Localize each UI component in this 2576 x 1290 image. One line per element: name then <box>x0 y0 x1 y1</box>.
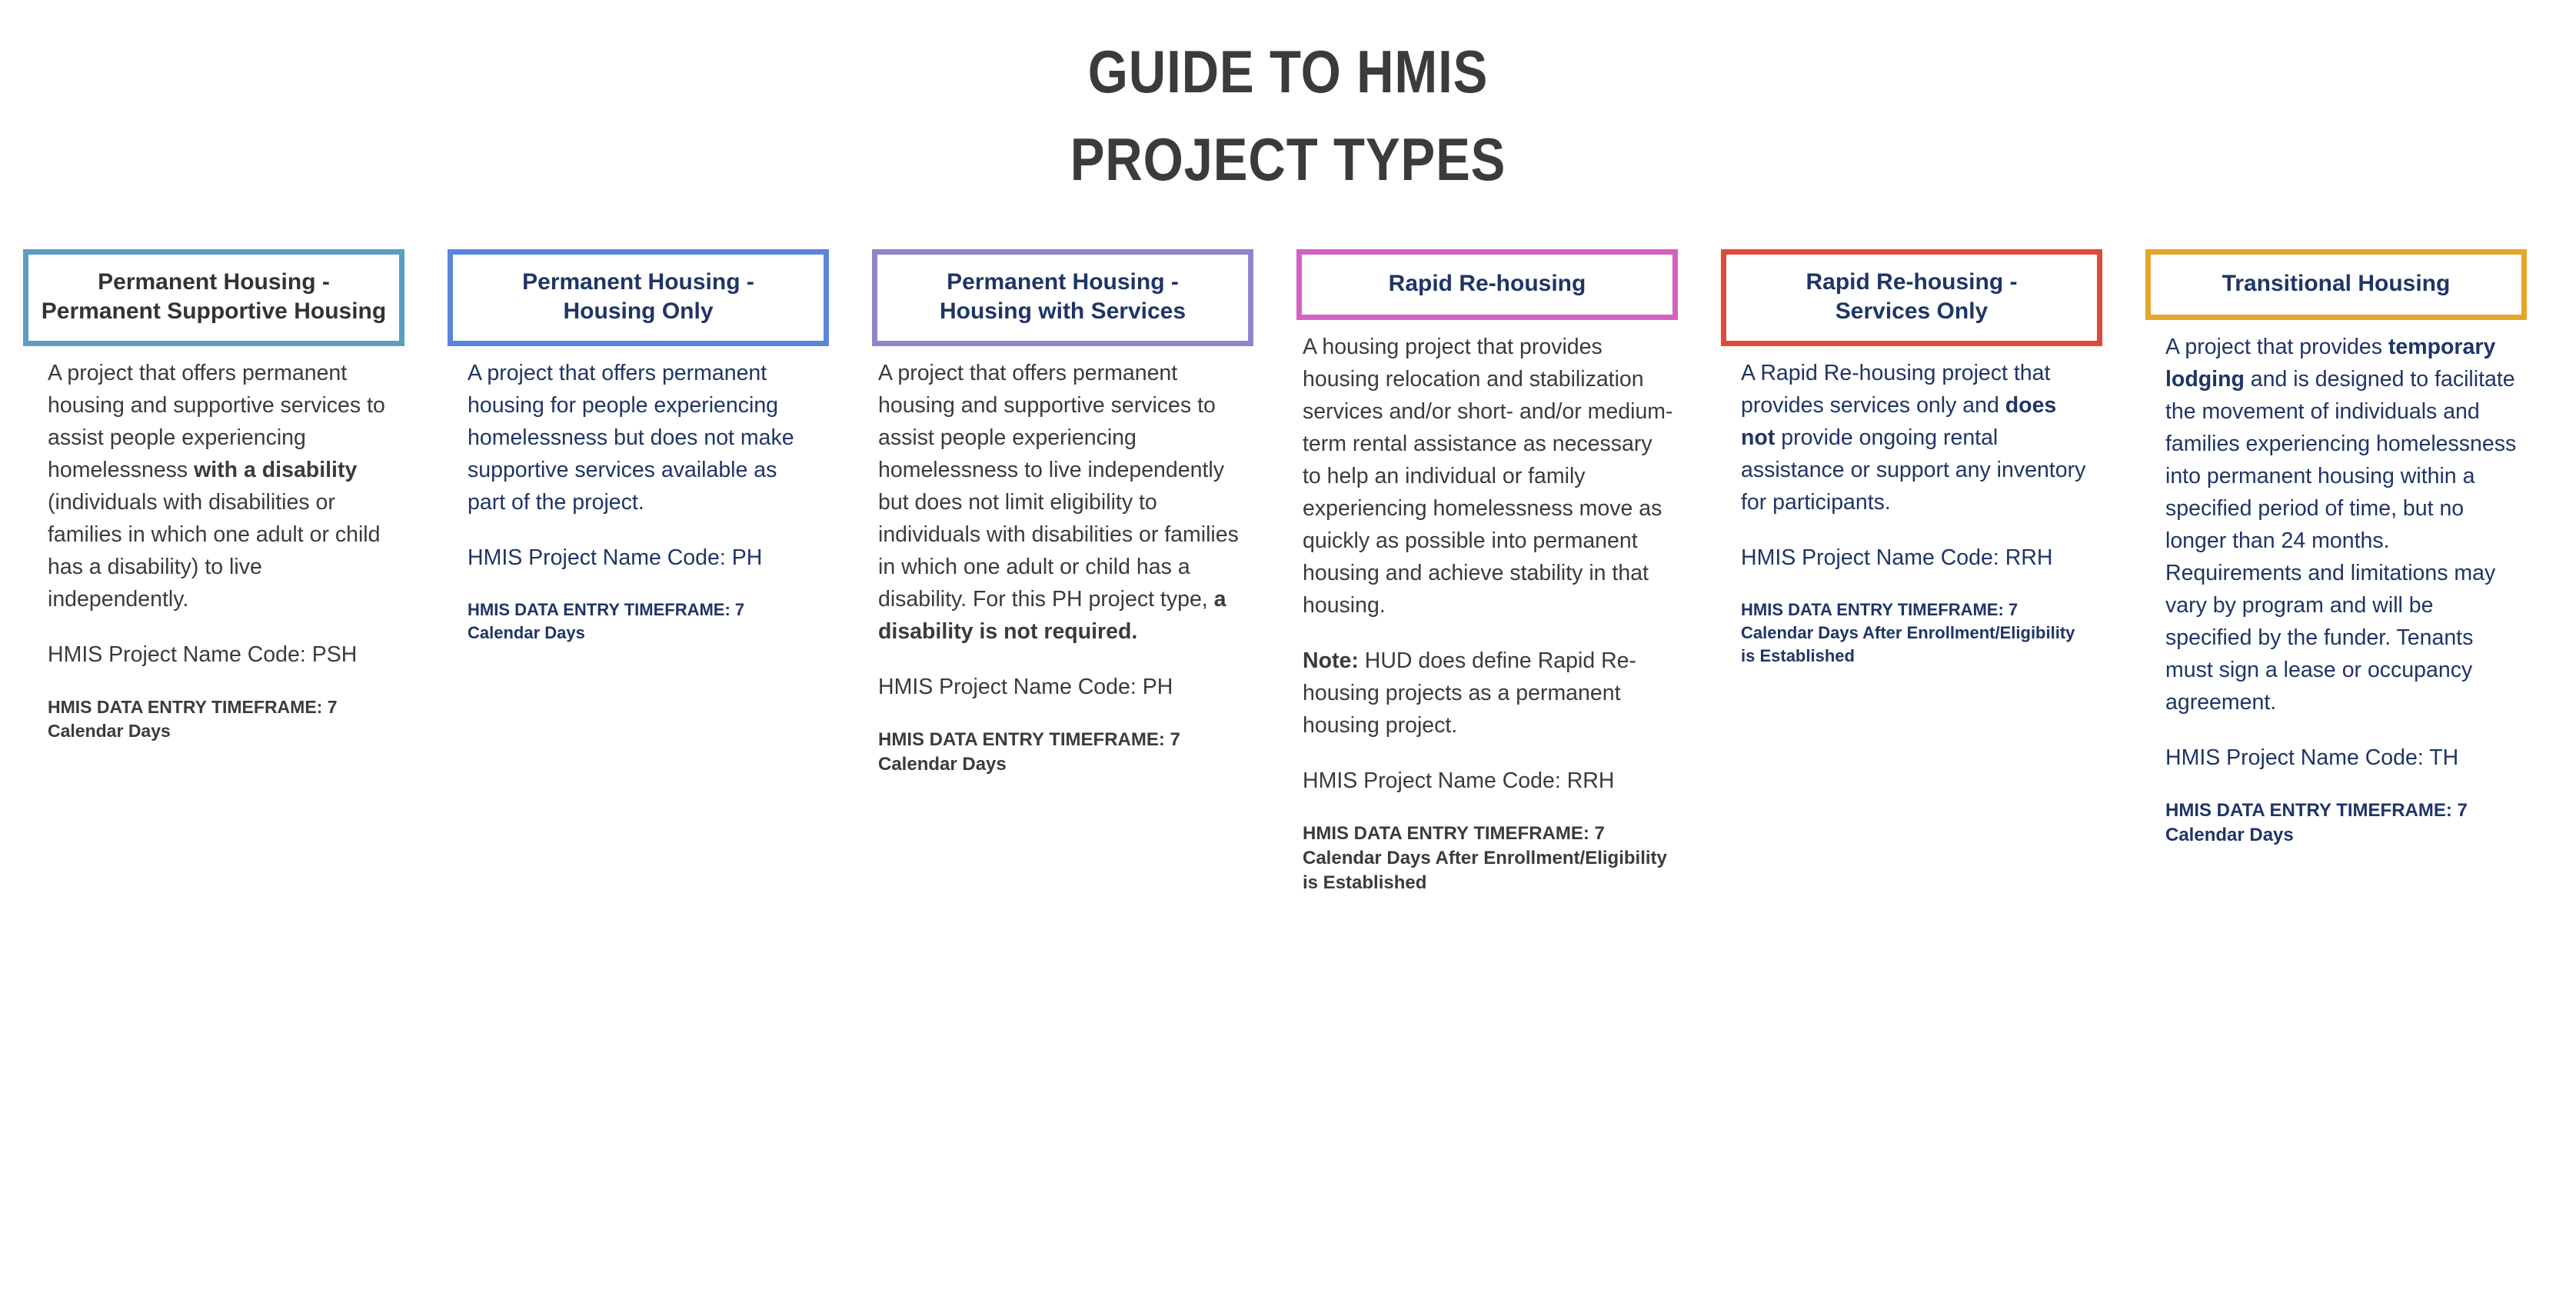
column-body: A project that offers permanent housing … <box>23 346 404 743</box>
project-type-columns: Permanent Housing - Permanent Supportive… <box>23 249 2553 895</box>
note-label: Note: <box>1303 648 1359 673</box>
project-type-column-rapid-rehousing: Rapid Re-housing A housing project that … <box>1296 249 1678 895</box>
column-body: A Rapid Re-housing project that provides… <box>1721 346 2102 668</box>
column-description: A project that provides temporary lodgin… <box>2165 331 2522 718</box>
column-header-inner: Rapid Re-housing <box>1305 261 1669 308</box>
project-name-code: HMIS Project Name Code: RRH <box>1741 542 2092 574</box>
page-title-line-1: GUIDE TO HMIS <box>181 28 2396 115</box>
project-type-column-transitional-housing: Transitional Housing A project that prov… <box>2145 249 2527 848</box>
guide-page: GUIDE TO HMIS PROJECT TYPES Permanent Ho… <box>0 0 2576 1290</box>
project-type-column-rapid-rehousing-services-only: Rapid Re-housing - Services Only A Rapid… <box>1721 249 2102 668</box>
column-header-inner: Permanent Housing - Permanent Supportive… <box>32 259 396 336</box>
project-type-column-housing-only: Permanent Housing - Housing Only A proje… <box>448 249 829 645</box>
column-header-title: Rapid Re-housing <box>1309 269 1666 298</box>
column-header-box: Rapid Re-housing <box>1296 249 1678 320</box>
project-type-column-housing-with-services: Permanent Housing - Housing with Service… <box>872 249 1253 777</box>
column-header-box: Transitional Housing <box>2145 249 2527 320</box>
column-header-box: Permanent Housing - Housing with Service… <box>872 249 1253 346</box>
description-pre: A project that offers permanent housing … <box>468 361 794 515</box>
description-bold: with a disability <box>194 458 357 482</box>
column-body: A project that offers permanent housing … <box>872 346 1253 777</box>
description-post: and is designed to facilitate the moveme… <box>2165 367 2516 715</box>
column-header-title: Permanent Housing - Housing Only <box>460 268 817 326</box>
data-entry-timeframe: HMIS DATA ENTRY TIMEFRAME: 7 Calendar Da… <box>878 728 1250 777</box>
column-header-inner: Transitional Housing <box>2154 261 2518 308</box>
column-header-title: Rapid Re-housing - Services Only <box>1733 268 2090 326</box>
column-body: A housing project that provides housing … <box>1296 320 1678 895</box>
column-header-inner: Permanent Housing - Housing with Service… <box>880 259 1245 336</box>
data-entry-timeframe: HMIS DATA ENTRY TIMEFRAME: 7 Calendar Da… <box>1303 822 1675 895</box>
column-header-box: Permanent Housing - Housing Only <box>448 249 829 346</box>
column-header-inner: Permanent Housing - Housing Only <box>456 259 820 336</box>
column-header-title: Permanent Housing - Housing with Service… <box>884 268 1241 326</box>
description-pre: A project that offers permanent housing … <box>878 361 1239 612</box>
column-body: A project that offers permanent housing … <box>448 346 829 645</box>
column-body: A project that provides temporary lodgin… <box>2145 320 2527 848</box>
project-name-code: HMIS Project Name Code: PH <box>878 671 1250 703</box>
project-name-code: HMIS Project Name Code: PSH <box>48 638 397 671</box>
project-name-code: HMIS Project Name Code: PH <box>468 542 818 574</box>
column-header-inner: Rapid Re-housing - Services Only <box>1729 259 2094 336</box>
project-name-code: HMIS Project Name Code: RRH <box>1303 765 1675 797</box>
data-entry-timeframe: HMIS DATA ENTRY TIMEFRAME: 7 Calendar Da… <box>468 598 818 645</box>
column-header-box: Permanent Housing - Permanent Supportive… <box>23 249 404 346</box>
description-pre: A Rapid Re-housing project that provides… <box>1741 361 2050 418</box>
column-description: A housing project that provides housing … <box>1303 331 1675 622</box>
description-post: (individuals with disabilities or famili… <box>48 490 380 612</box>
data-entry-timeframe: HMIS DATA ENTRY TIMEFRAME: 7 Calendar Da… <box>48 695 397 743</box>
project-name-code: HMIS Project Name Code: TH <box>2165 742 2522 774</box>
page-title-line-2: PROJECT TYPES <box>181 115 2396 203</box>
description-pre: A project that provides <box>2165 335 2388 359</box>
project-type-column-permanent-supportive-housing: Permanent Housing - Permanent Supportive… <box>23 249 404 743</box>
column-description: A project that offers permanent housing … <box>468 357 818 518</box>
column-header-title: Transitional Housing <box>2158 269 2514 298</box>
column-header-title: Permanent Housing - Permanent Supportive… <box>35 268 392 326</box>
column-description: A project that offers permanent housing … <box>878 357 1250 648</box>
data-entry-timeframe: HMIS DATA ENTRY TIMEFRAME: 7 Calendar Da… <box>2165 798 2522 848</box>
data-entry-timeframe: HMIS DATA ENTRY TIMEFRAME: 7 Calendar Da… <box>1741 598 2092 668</box>
description-post: provide ongoing rental assistance or sup… <box>1741 425 2085 515</box>
column-header-box: Rapid Re-housing - Services Only <box>1721 249 2102 346</box>
description-pre: A housing project that provides housing … <box>1303 335 1673 618</box>
column-note: Note: HUD does define Rapid Re-housing p… <box>1303 645 1675 742</box>
column-description: A project that offers permanent housing … <box>48 357 397 615</box>
page-title: GUIDE TO HMIS PROJECT TYPES <box>0 28 2576 203</box>
column-description: A Rapid Re-housing project that provides… <box>1741 357 2092 518</box>
